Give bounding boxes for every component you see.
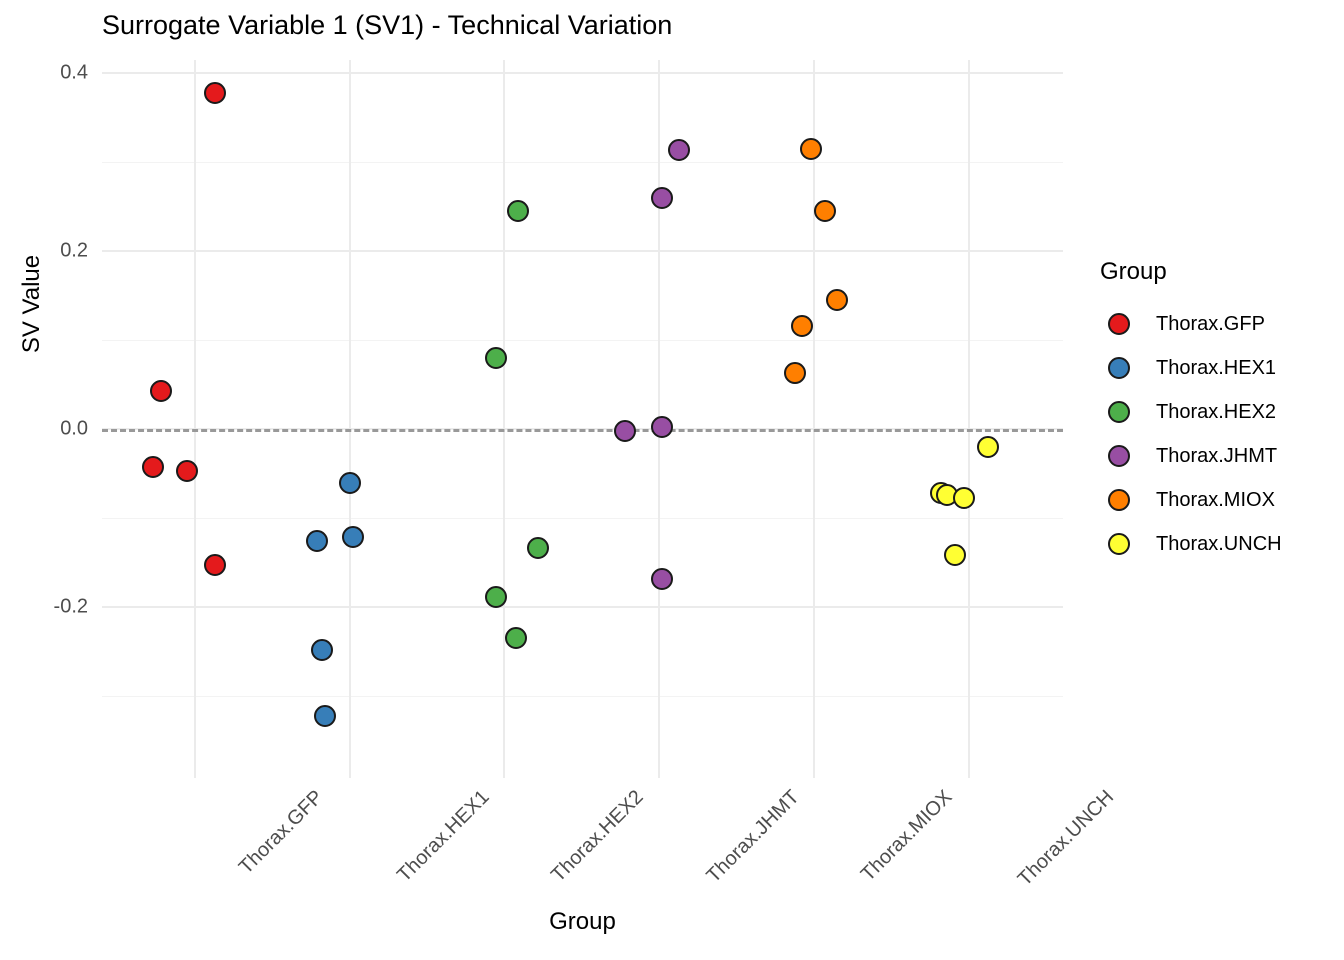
x-axis-tick-label: Thorax.UNCH xyxy=(1014,786,1119,891)
legend-item[interactable]: Thorax.JHMT xyxy=(1098,434,1338,478)
x-axis-tick-label: Thorax.HEX1 xyxy=(393,786,494,887)
y-axis-tick-label: 0.0 xyxy=(60,418,88,441)
data-point xyxy=(791,315,813,337)
plot-panel xyxy=(102,60,1063,778)
gridline-x-major xyxy=(813,60,815,778)
gridline-y-major xyxy=(102,606,1063,608)
legend: Group Thorax.GFPThorax.HEX1Thorax.HEX2Th… xyxy=(1098,258,1338,566)
data-point xyxy=(814,200,836,222)
data-point xyxy=(800,138,822,160)
data-point xyxy=(651,416,673,438)
y-axis-tick-label: 0.2 xyxy=(60,240,88,263)
data-point xyxy=(204,554,226,576)
legend-item[interactable]: Thorax.HEX2 xyxy=(1098,390,1338,434)
gridline-x-major xyxy=(968,60,970,778)
data-point xyxy=(977,436,999,458)
gridline-x-major xyxy=(503,60,505,778)
legend-color-swatch-icon xyxy=(1108,445,1130,467)
gridline-x-major xyxy=(194,60,196,778)
data-point xyxy=(342,526,364,548)
legend-title: Group xyxy=(1100,258,1338,286)
page-title: Surrogate Variable 1 (SV1) - Technical V… xyxy=(102,10,672,41)
gridline-y-minor xyxy=(102,696,1063,697)
gridline-y-minor xyxy=(102,340,1063,341)
legend-items: Thorax.GFPThorax.HEX1Thorax.HEX2Thorax.J… xyxy=(1098,302,1338,566)
data-point xyxy=(651,568,673,590)
x-axis-tick-label: Thorax.HEX2 xyxy=(547,786,648,887)
gridline-y-major xyxy=(102,72,1063,74)
x-axis-tick-labels: Thorax.GFPThorax.HEX1Thorax.HEX2Thorax.J… xyxy=(102,778,1063,898)
data-point xyxy=(311,639,333,661)
legend-color-swatch-icon xyxy=(1108,401,1130,423)
legend-item-label: Thorax.HEX1 xyxy=(1156,357,1276,380)
data-point xyxy=(507,200,529,222)
x-axis-tick-label: Thorax.GFP xyxy=(235,786,328,879)
legend-item-label: Thorax.JHMT xyxy=(1156,445,1277,468)
legend-item[interactable]: Thorax.GFP xyxy=(1098,302,1338,346)
legend-item[interactable]: Thorax.MIOX xyxy=(1098,478,1338,522)
legend-item[interactable]: Thorax.HEX1 xyxy=(1098,346,1338,390)
data-point xyxy=(784,362,806,384)
gridline-y-minor xyxy=(102,518,1063,519)
x-axis-tick-label: Thorax.MIOX xyxy=(857,786,957,886)
legend-item-label: Thorax.HEX2 xyxy=(1156,401,1276,424)
data-point xyxy=(953,487,975,509)
data-point xyxy=(668,139,690,161)
legend-item-label: Thorax.GFP xyxy=(1156,313,1265,336)
y-axis-tick-label: -0.2 xyxy=(54,596,88,619)
data-point xyxy=(527,537,549,559)
data-point xyxy=(826,289,848,311)
data-point xyxy=(485,347,507,369)
zero-reference-line xyxy=(102,429,1063,432)
data-point xyxy=(314,705,336,727)
data-point xyxy=(339,472,361,494)
legend-color-swatch-icon xyxy=(1108,533,1130,555)
y-axis-tick-label: 0.4 xyxy=(60,62,88,85)
y-axis-title: SV Value xyxy=(18,124,46,484)
data-point xyxy=(944,544,966,566)
legend-color-swatch-icon xyxy=(1108,357,1130,379)
legend-item-label: Thorax.MIOX xyxy=(1156,489,1275,512)
gridline-x-major xyxy=(349,60,351,778)
legend-color-swatch-icon xyxy=(1108,313,1130,335)
data-point xyxy=(614,420,636,442)
data-point xyxy=(651,187,673,209)
gridline-y-major xyxy=(102,250,1063,252)
legend-item-label: Thorax.UNCH xyxy=(1156,533,1282,556)
data-point xyxy=(306,530,328,552)
data-point xyxy=(150,380,172,402)
data-point xyxy=(142,456,164,478)
data-point xyxy=(204,82,226,104)
x-axis-tick-label: Thorax.JHMT xyxy=(702,786,804,888)
legend-item[interactable]: Thorax.UNCH xyxy=(1098,522,1338,566)
data-point xyxy=(176,460,198,482)
data-point xyxy=(505,627,527,649)
x-axis-title: Group xyxy=(102,908,1063,936)
gridline-y-minor xyxy=(102,162,1063,163)
legend-color-swatch-icon xyxy=(1108,489,1130,511)
